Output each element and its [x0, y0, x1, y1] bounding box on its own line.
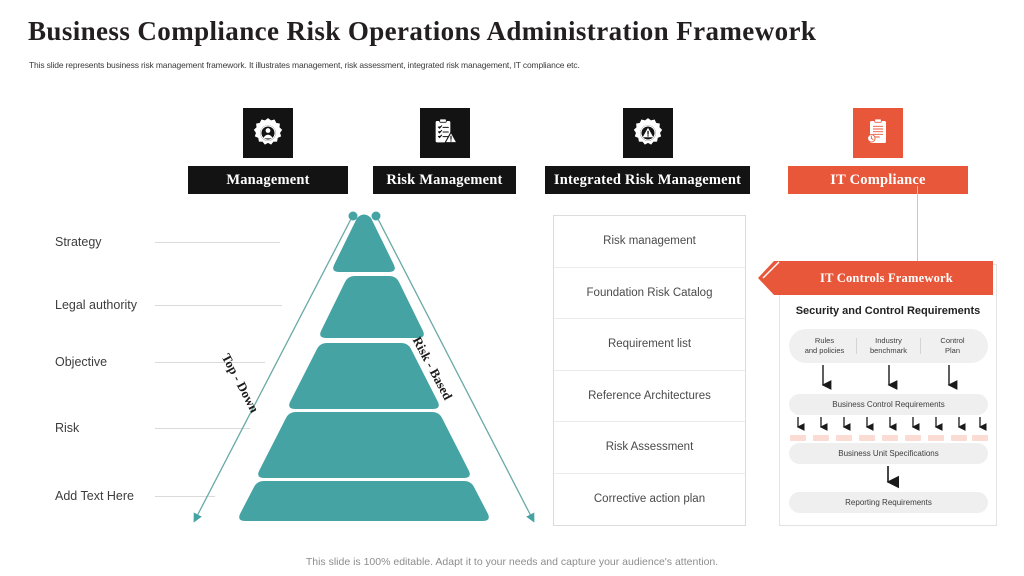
security-control-heading: Security and Control Requirements [779, 305, 997, 317]
gear-warning-icon [623, 108, 673, 158]
risk-catalog-list: Risk management Foundation Risk Catalog … [553, 215, 746, 526]
segment-line1: Rules [815, 336, 834, 345]
pyramid-label-objective: Objective [55, 355, 107, 369]
segment-line1: Control [940, 336, 964, 345]
gear-person-icon [243, 108, 293, 158]
list-item[interactable]: Risk Assessment [554, 422, 745, 474]
pyramid-level-2 [320, 276, 424, 338]
page-subtitle: This slide represents business risk mana… [29, 60, 580, 70]
pyramid-level-5 [239, 481, 489, 521]
segment-line1: Industry [875, 336, 902, 345]
pyramid-apex-dot-left [349, 212, 358, 221]
business-unit-specifications-bar[interactable]: Business Unit Specifications [789, 443, 988, 464]
business-control-requirements-bar[interactable]: Business Control Requirements [789, 394, 988, 415]
segment-control-plan[interactable]: Control Plan [921, 336, 984, 356]
list-item[interactable]: Risk management [554, 216, 745, 268]
pyramid-level-4 [258, 412, 470, 478]
pyramid-label-legal-authority: Legal authority [55, 298, 137, 312]
top-segments-pill: Rules and policies Industry benchmark Co… [789, 329, 988, 363]
segment-industry-benchmark[interactable]: Industry benchmark [857, 336, 920, 356]
bus-to-reporting-arrow [789, 466, 988, 490]
segment-line2: benchmark [870, 346, 907, 355]
pyramid-label-risk: Risk [55, 421, 79, 435]
it-controls-ribbon-title: IT Controls Framework [758, 259, 993, 297]
segment-rules-and-policies[interactable]: Rules and policies [793, 336, 856, 356]
category-risk-management-label: Risk Management [373, 166, 516, 194]
reporting-requirements-bar[interactable]: Reporting Requirements [789, 492, 988, 513]
list-item[interactable]: Foundation Risk Catalog [554, 268, 745, 320]
clipboard-clock-icon [853, 108, 903, 158]
category-it-compliance-label: IT Compliance [788, 166, 968, 194]
list-item[interactable]: Requirement list [554, 319, 745, 371]
category-management-label: Management [188, 166, 348, 194]
list-item[interactable]: Reference Architectures [554, 371, 745, 423]
pink-box-row [789, 417, 988, 441]
clipboard-warning-icon [420, 108, 470, 158]
category-integrated-risk-management-label: Integrated Risk Management [545, 166, 750, 194]
page-title: Business Compliance Risk Operations Admi… [28, 16, 816, 47]
pyramid-diagram: Top - Down Risk - Based [180, 206, 548, 531]
segment-line2: Plan [945, 346, 960, 355]
pyramid-label-add-text-here: Add Text Here [55, 489, 134, 503]
segment-line2: and policies [805, 346, 845, 355]
it-compliance-connector-line [917, 186, 918, 264]
pyramid-level-1 [333, 215, 395, 273]
segment-arrows-group [789, 365, 988, 393]
footer-note: This slide is 100% editable. Adapt it to… [0, 556, 1024, 568]
slide-root: Business Compliance Risk Operations Admi… [0, 0, 1024, 576]
pyramid-label-strategy: Strategy [55, 235, 102, 249]
list-item[interactable]: Corrective action plan [554, 474, 745, 526]
pyramid-apex-dot-right [372, 212, 381, 221]
it-controls-ribbon: IT Controls Framework [758, 259, 993, 297]
